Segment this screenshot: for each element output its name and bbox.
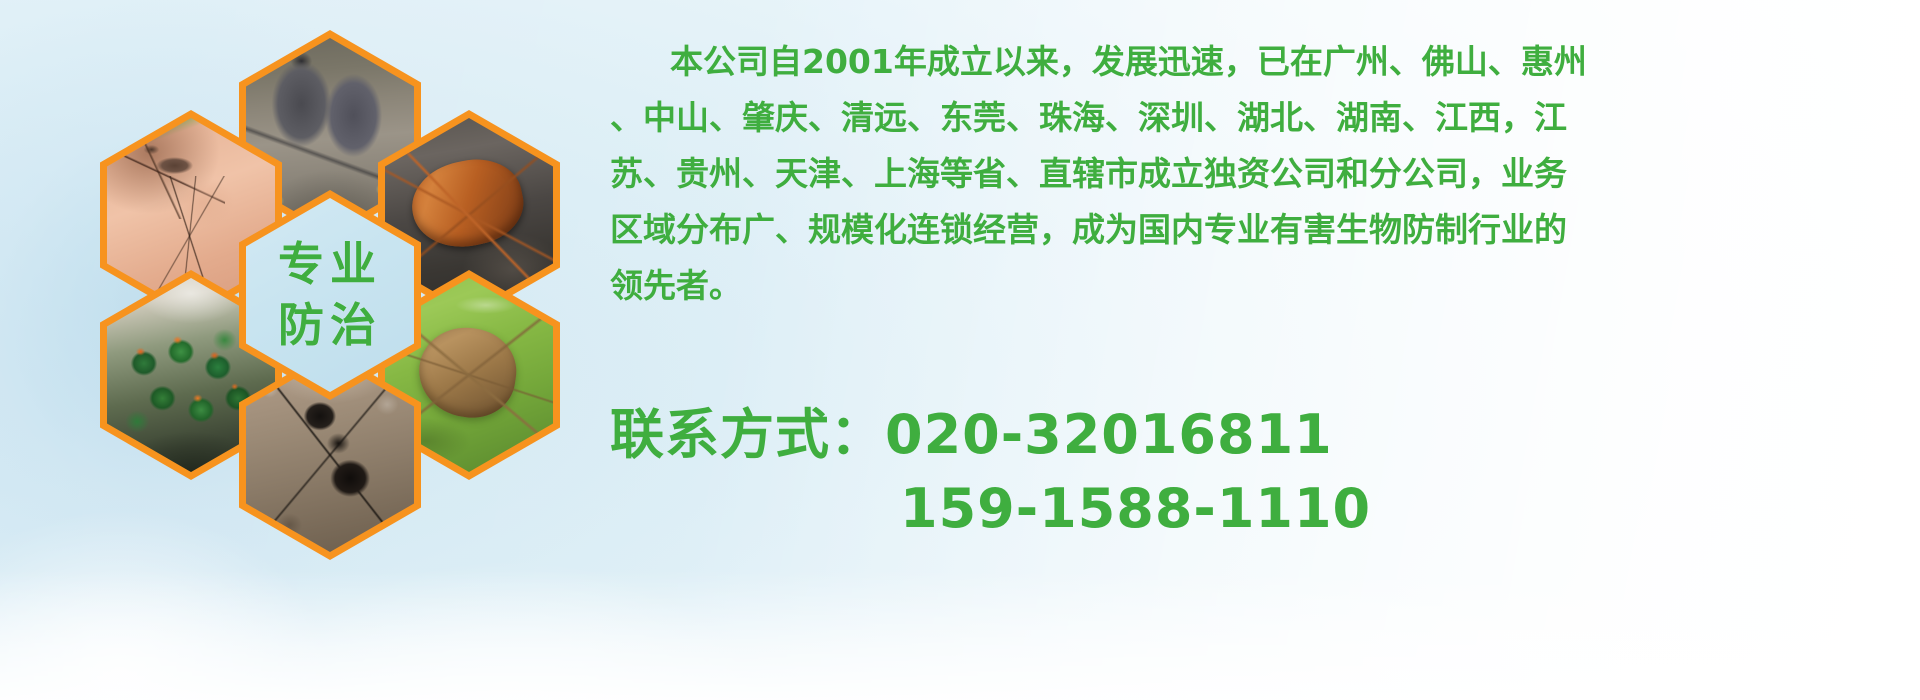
paragraph-line: 苏、贵州、天津、上海等省、直辖市成立独资公司和分公司，业务 (610, 146, 1920, 202)
content-column: 本公司自2001年成立以来，发展迅速，已在广州、佛山、惠州 、中山、肇庆、清远、… (610, 0, 1920, 700)
paragraph-line: 、中山、肇庆、清远、东莞、珠海、深圳、湖北、湖南、江西，江 (610, 90, 1920, 146)
contact-label-and-primary-phone[interactable]: 联系方式：020-32016811 (610, 398, 1920, 472)
contact-secondary-phone[interactable]: 159-1588-1110 (610, 472, 1920, 546)
promo-banner: 专业 防治 本公司自2001年成立以来，发展迅速，已在广州、佛山、惠州 、中山、… (0, 0, 1920, 700)
paragraph-line: 区域分布广、规模化连锁经营，成为国内专业有害生物防制行业的 (610, 202, 1920, 258)
company-intro-paragraph: 本公司自2001年成立以来，发展迅速，已在广州、佛山、惠州 、中山、肇庆、清远、… (610, 34, 1920, 314)
slogan-line-2: 防治 (278, 295, 382, 356)
contact-block: 联系方式：020-32016811 159-1588-1110 (610, 398, 1920, 546)
hex-slogan-frame: 专业 防治 (246, 198, 414, 392)
slogan-line-1: 专业 (278, 234, 382, 295)
paragraph-line: 本公司自2001年成立以来，发展迅速，已在广州、佛山、惠州 (610, 34, 1920, 90)
honeycomb-collage: 专业 防治 (0, 0, 600, 580)
paragraph-line: 领先者。 (610, 258, 1920, 314)
